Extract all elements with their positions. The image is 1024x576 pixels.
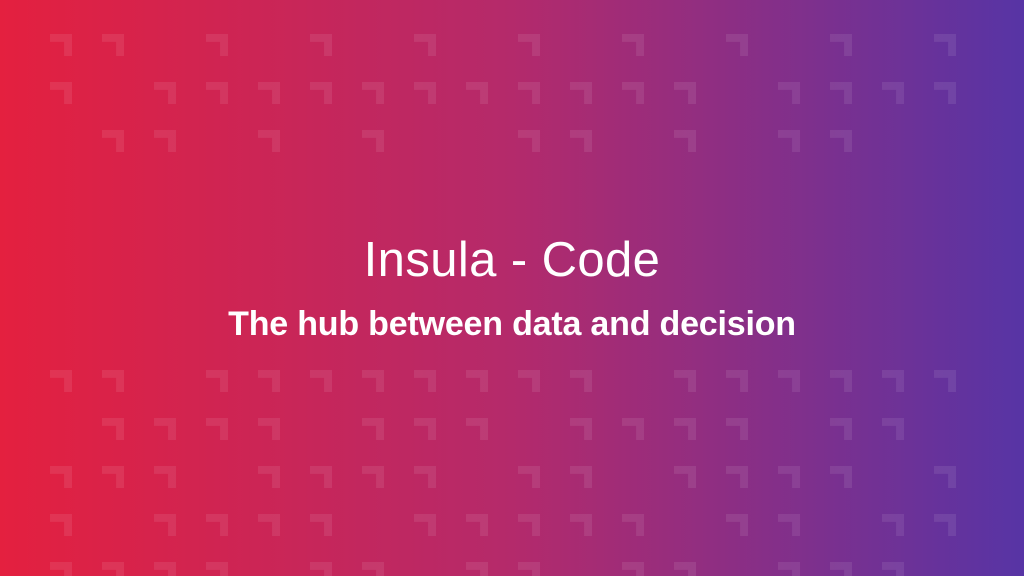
slide-content: Insula - Code The hub between data and d… xyxy=(0,0,1024,576)
slide-title: Insula - Code xyxy=(364,236,661,285)
presentation-slide: Insula - Code The hub between data and d… xyxy=(0,0,1024,576)
slide-subtitle: The hub between data and decision xyxy=(228,307,796,341)
